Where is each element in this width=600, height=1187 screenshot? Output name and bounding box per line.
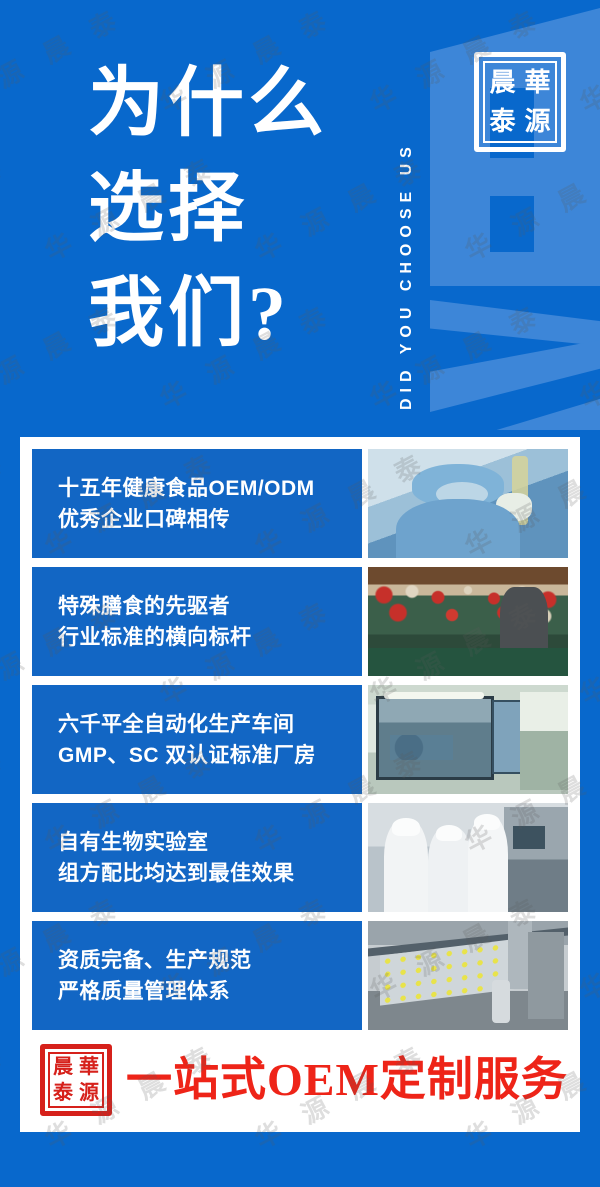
company-seal-white-icon: 晨 華 泰 源 bbox=[474, 52, 566, 152]
watermark-text: 华 源 晨 泰 bbox=[363, 1181, 551, 1187]
cleanroom-corridor-photo bbox=[368, 685, 568, 794]
watermark-text: 华 源 晨 泰 bbox=[0, 737, 16, 861]
lab-technician-photo bbox=[368, 449, 568, 558]
feature-line: 严格质量管理体系 bbox=[58, 976, 362, 1007]
feature-text-block: 自有生物实验室 组方配比均达到最佳效果 bbox=[32, 803, 362, 912]
watermark-text: 华 源 晨 泰 bbox=[458, 145, 600, 269]
feature-line: 优秀企业口碑相传 bbox=[58, 504, 362, 535]
feature-line: 行业标准的横向标杆 bbox=[58, 622, 362, 653]
watermark-text: 华 源 晨 泰 bbox=[573, 0, 600, 120]
watermark-text: 华 源 晨 泰 bbox=[0, 145, 16, 269]
seal-char-2: 華 bbox=[520, 63, 555, 102]
feature-line: 组方配比均达到最佳效果 bbox=[58, 858, 362, 889]
seal-char-2: 華 bbox=[76, 1054, 102, 1080]
seal-char-3: 泰 bbox=[485, 102, 520, 141]
watermark-text: 华 源 晨 泰 bbox=[0, 1181, 131, 1187]
feature-row: 特殊膳食的先驱者 行业标准的横向标杆 bbox=[32, 567, 568, 676]
feature-text-block: 资质完备、生产规范 严格质量管理体系 bbox=[32, 921, 362, 1030]
feature-list: 十五年健康食品OEM/ODM 优秀企业口碑相传 特殊膳食的先驱者 行业标准的横向… bbox=[32, 449, 568, 1030]
feature-line: 自有生物实验室 bbox=[58, 827, 362, 858]
watermark-text: 华 源 晨 泰 bbox=[153, 1181, 341, 1187]
seal-char-1: 晨 bbox=[485, 63, 520, 102]
feature-line: 特殊膳食的先驱者 bbox=[58, 591, 362, 622]
seal-char-4: 源 bbox=[76, 1080, 102, 1106]
feature-row: 十五年健康食品OEM/ODM 优秀企业口碑相传 bbox=[32, 449, 568, 558]
feature-text-block: 特殊膳食的先驱者 行业标准的横向标杆 bbox=[32, 567, 362, 676]
feature-text-block: 十五年健康食品OEM/ODM 优秀企业口碑相传 bbox=[32, 449, 362, 558]
footer-banner: 晨 華 泰 源 一站式OEM定制服务 bbox=[32, 1039, 568, 1121]
feature-text-block: 六千平全自动化生产车间 GMP、SC 双认证标准厂房 bbox=[32, 685, 362, 794]
conference-audience-photo bbox=[368, 567, 568, 676]
features-panel: 十五年健康食品OEM/ODM 优秀企业口碑相传 特殊膳食的先驱者 行业标准的横向… bbox=[20, 437, 580, 1132]
feature-line: 十五年健康食品OEM/ODM bbox=[58, 473, 362, 504]
title-line-3: 我们? bbox=[88, 262, 418, 367]
poster-root: 为什么 选择 我们? DID YOU CHOOSE US 晨 華 泰 源 十五年… bbox=[0, 0, 600, 1187]
page-title: 为什么 选择 我们? bbox=[88, 52, 418, 367]
watermark-text: 华 源 晨 泰 bbox=[0, 1033, 16, 1157]
company-seal-red-icon: 晨 華 泰 源 bbox=[40, 1044, 112, 1116]
blister-packing-machine-photo bbox=[368, 921, 568, 1030]
seal-char-4: 源 bbox=[520, 102, 555, 141]
seal-char-3: 泰 bbox=[50, 1080, 76, 1106]
feature-row: 自有生物实验室 组方配比均达到最佳效果 bbox=[32, 803, 568, 912]
watermark-text: 华 源 晨 泰 bbox=[0, 441, 16, 565]
watermark-text: 华 源 晨 泰 bbox=[573, 1181, 600, 1187]
lab-coat-workers-photo bbox=[368, 803, 568, 912]
title-line-1: 为什么 bbox=[88, 52, 418, 157]
feature-row: 六千平全自动化生产车间 GMP、SC 双认证标准厂房 bbox=[32, 685, 568, 794]
feature-row: 资质完备、生产规范 严格质量管理体系 bbox=[32, 921, 568, 1030]
footer-slogan: 一站式OEM定制服务 bbox=[126, 1057, 568, 1103]
title-line-2: 选择 bbox=[88, 157, 418, 262]
vertical-english-caption: DID YOU CHOOSE US bbox=[398, 10, 432, 410]
seal-char-1: 晨 bbox=[50, 1054, 76, 1080]
feature-line: 资质完备、生产规范 bbox=[58, 945, 362, 976]
feature-line: 六千平全自动化生产车间 bbox=[58, 709, 362, 740]
feature-line: GMP、SC 双认证标准厂房 bbox=[58, 740, 362, 771]
watermark-text: 华 源 晨 泰 bbox=[573, 293, 600, 417]
